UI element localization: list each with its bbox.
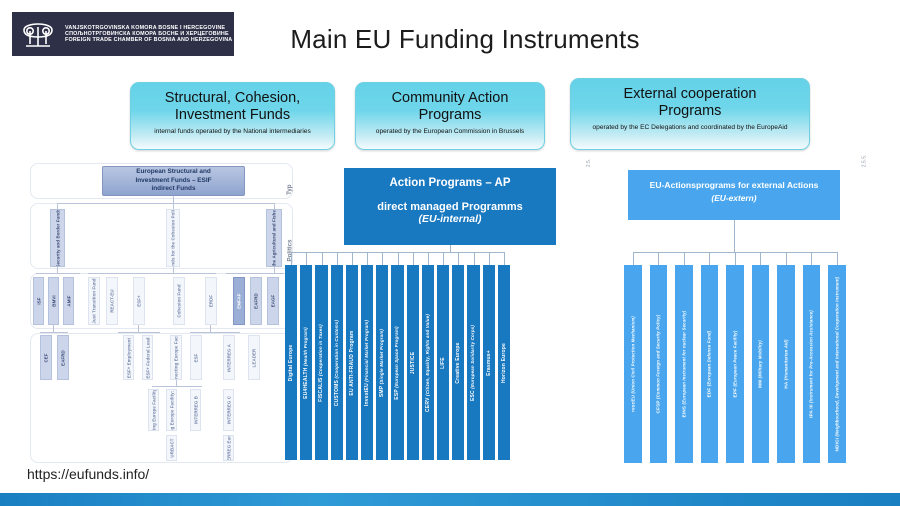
connector xyxy=(88,273,216,274)
program-bar-label: SMP (Single Market Program) xyxy=(379,328,385,396)
program-desc: (European Space Program) xyxy=(394,326,399,389)
connector xyxy=(152,386,202,387)
esif-subprogram-label: Connecting Europe Facility: Transport xyxy=(169,389,174,431)
program-bar-label: EU4HEALTH (Health Program) xyxy=(303,327,309,399)
program-bar[interactable]: CUSTOMS (Cooperation in Customs) xyxy=(331,265,343,460)
connector xyxy=(735,252,736,265)
slide-canvas: VANJSKOTRGOVINSKA KOMORA BOSNE I HERCEGO… xyxy=(0,0,900,506)
esif-subprogram-box: INTERREG A xyxy=(223,335,235,380)
program-abbr: Erasmus+ xyxy=(486,350,492,376)
esif-fund-react-eu: REACT-EU xyxy=(106,277,118,325)
esif-fund-cohesion-fund: Cohesion Fund xyxy=(173,277,185,325)
program-desc: (Neighbourhood, Development and Internat… xyxy=(834,277,839,438)
program-bar-label: EPF (European Peace Facility) xyxy=(732,331,737,398)
esif-fund-erdf: ERDF xyxy=(205,277,217,325)
connector xyxy=(709,252,710,265)
connector xyxy=(118,332,160,333)
program-abbr: EU4HEALTH xyxy=(303,367,309,398)
esif-subprogram-label: ESF xyxy=(194,353,199,362)
esif-subprogram-label: INTERREG Europe xyxy=(226,435,231,461)
connector xyxy=(489,252,490,265)
program-bar-label: CERV (Citizen, Equality, Rights and Valu… xyxy=(425,314,431,412)
program-bar[interactable]: EDF (European Defense Fund) xyxy=(701,265,719,463)
connector xyxy=(837,252,838,265)
esif-subprogram-label: INTERREG A xyxy=(227,344,232,372)
program-bar[interactable]: EPF (European Peace Facility) xyxy=(726,265,744,463)
esif-subprogram-box: Connecting Europe Facility xyxy=(170,335,182,380)
esif-subprogram-box: LEADER xyxy=(248,335,260,380)
action-programs-header: Action Programs – AP direct managed Prog… xyxy=(344,168,556,245)
program-bar[interactable]: HA (Humanitarian Aid) xyxy=(777,265,795,463)
program-abbr: NDICI xyxy=(834,438,839,452)
connector xyxy=(57,203,274,204)
program-bar-label: InvestEU (Financial Market Program) xyxy=(364,319,370,405)
top-box-external-cooperation-programs: External cooperation Programs operated b… xyxy=(570,78,810,150)
program-bar[interactable]: EINS (European Instrument for nuclear Se… xyxy=(675,265,693,463)
program-abbr: FISCALIS xyxy=(318,377,324,401)
esif-fund-label: BMVI xyxy=(51,295,56,306)
program-bar[interactable]: rescEU (Union Civil Protection Mechanism… xyxy=(624,265,642,463)
esif-diagram: Typ Politics Funds Subprograms European … xyxy=(30,163,293,463)
program-abbr: ESC xyxy=(470,390,476,401)
connector xyxy=(450,245,451,252)
program-bar-label: IPA III (Instrument for Pre-Accession As… xyxy=(809,310,814,418)
connector xyxy=(633,252,634,265)
ap-line-3: (EU-internal) xyxy=(344,213,556,225)
connector xyxy=(684,252,685,265)
esif-subprogram-label: INTERREG B xyxy=(193,396,198,424)
connector xyxy=(382,252,383,265)
connector xyxy=(458,252,459,265)
program-desc: (Health Program) xyxy=(303,327,308,367)
program-bar[interactable]: EU4HEALTH (Health Program) xyxy=(300,265,312,460)
esif-subprogram-label: URBACT xyxy=(169,438,174,457)
program-abbr: ESP xyxy=(394,389,400,400)
program-abbr: IPA III xyxy=(809,404,814,418)
esif-row-politics xyxy=(30,203,293,269)
page-title: Main EU Funding Instruments xyxy=(250,24,680,55)
esif-subprogram-box: ESF xyxy=(190,335,202,380)
program-bar-label: HA (Humanitarian Aid) xyxy=(783,339,788,388)
program-abbr: EPF xyxy=(732,388,737,398)
esif-fund-label: REACT-EU xyxy=(110,289,115,312)
esif-subprogram-box: INTERREG B xyxy=(190,389,201,431)
connector xyxy=(322,252,323,265)
program-abbr: rescEU xyxy=(630,395,635,412)
program-bar[interactable]: CERV (Citizen, Equality, Rights and Valu… xyxy=(422,265,434,460)
program-bar[interactable]: ESP (European Space Program) xyxy=(391,265,403,460)
esif-subprogram-label: Connecting Europe Facility xyxy=(174,335,179,380)
program-abbr: Horizon Europe xyxy=(501,342,507,382)
program-bar-label: MM (Military Mobility) xyxy=(758,340,763,388)
program-abbr: LIFE xyxy=(440,357,446,369)
box3-title-line2: Programs xyxy=(571,103,809,120)
program-bar-label: NDICI (Neighbourhood, Development and In… xyxy=(834,277,839,452)
program-desc: (European Peace Facility) xyxy=(732,331,737,388)
connector xyxy=(413,252,414,265)
esif-policy-label: Funds for the Cohesion Policy xyxy=(171,209,176,267)
esif-subprogram-label: Connecting Europe Facility: Digital xyxy=(151,389,156,431)
program-bar-label: rescEU (Union Civil Protection Mechanism… xyxy=(630,316,635,412)
esif-fund-label: EAFRD xyxy=(254,293,259,309)
esif-fund-bmvi: BMVI xyxy=(48,277,59,325)
esif-header-line2: Investment Funds – ESIF xyxy=(103,177,244,186)
program-bar-label: Horizon Europe xyxy=(501,342,507,382)
program-bar[interactable]: FISCALIS (Cooperation in Taxes) xyxy=(315,265,327,460)
program-abbr: MM xyxy=(758,380,763,388)
esif-policy-label: Funds for the Agricultural and Fisheries… xyxy=(272,209,277,267)
program-bar-label: LIFE xyxy=(440,357,446,369)
ap-line-1: Action Programs – AP xyxy=(344,177,556,189)
connector xyxy=(337,252,338,265)
esif-subprogram-label: INTERREG C xyxy=(226,396,231,424)
program-bar[interactable]: Erasmus+ xyxy=(483,265,495,460)
program-bar-label: CUSTOMS (Cooperation in Customs) xyxy=(334,319,340,405)
program-bar-label: EINS (European Instrument for nuclear Se… xyxy=(681,311,686,418)
program-desc: (Military Mobility) xyxy=(758,340,763,380)
box3-subtitle: operated by the EC Delegations and coord… xyxy=(571,124,809,132)
ext-line-2: (EU-extern) xyxy=(628,193,840,203)
esif-subprogram-box: ESF+ Employment xyxy=(123,335,134,380)
esif-fund-label: Just Transition Fund xyxy=(92,278,97,323)
program-desc: (European Defense Fund) xyxy=(707,331,712,388)
connector xyxy=(306,252,307,265)
esif-fund-emfaf: EMFAF xyxy=(233,277,245,325)
esif-subprogram-box: INTERREG Europe xyxy=(223,435,234,461)
program-bar[interactable]: IPA III (Instrument for Pre-Accession As… xyxy=(803,265,821,463)
program-desc: (Cooperation in Customs) xyxy=(334,319,339,379)
program-bar-label: Creative Europe xyxy=(455,342,461,383)
program-abbr: EU ANTI-FRAUD Program xyxy=(349,330,355,395)
program-abbr: CUSTOMS xyxy=(334,379,340,405)
esif-fund-label: EMFAF xyxy=(237,293,242,308)
esif-fund-isf: ISF xyxy=(33,277,44,325)
esif-header: European Structural and Investment Funds… xyxy=(102,166,245,196)
connector xyxy=(428,252,429,265)
box2-subtitle: operated by the European Commission in B… xyxy=(356,128,544,136)
ap-line-2: direct managed Programms xyxy=(344,201,556,213)
connector xyxy=(40,332,68,333)
connector xyxy=(504,252,505,265)
esif-fund-label: Cohesion Fund xyxy=(177,284,182,317)
program-bar[interactable]: Digital Europe xyxy=(285,265,297,460)
slide-mark-2: 2.5.5. xyxy=(861,155,867,168)
program-bar[interactable]: CFSP (Common Foreign and Security Policy… xyxy=(650,265,668,463)
esif-header-line1: European Structural and xyxy=(103,168,244,177)
connector xyxy=(173,196,174,203)
program-bar[interactable]: NDICI (Neighbourhood, Development and In… xyxy=(828,265,846,463)
esif-fund-eagf: EAGF xyxy=(267,277,279,325)
esif-fund-eafrd: EAFRD xyxy=(250,277,262,325)
connector xyxy=(786,252,787,265)
connector xyxy=(734,220,735,252)
program-desc: (Instrument for Pre-Accession Assistance… xyxy=(809,310,814,404)
connector xyxy=(760,252,761,265)
esif-subprogram-box: URBACT xyxy=(166,435,177,461)
program-desc: (European Instrument for nuclear Securit… xyxy=(681,311,686,406)
esif-fund-label: ISF xyxy=(36,297,41,304)
connector xyxy=(190,332,240,333)
program-desc: (Cooperation in Taxes) xyxy=(318,324,323,377)
connector xyxy=(291,252,292,265)
esif-fund-label: ERDF xyxy=(209,295,214,307)
connector xyxy=(352,252,353,265)
connector xyxy=(658,252,659,265)
esif-fund-amif: AMIF xyxy=(63,277,74,325)
esif-fund-label: EAGF xyxy=(271,295,276,308)
esif-policy-cohesion: Funds for the Cohesion Policy xyxy=(166,209,180,267)
program-abbr: HA xyxy=(783,382,788,389)
program-bar-label: JUSTICE xyxy=(410,351,416,374)
connector xyxy=(398,252,399,265)
esif-subprogram-box: CEF xyxy=(40,335,52,380)
program-desc: (Single Market Program) xyxy=(379,328,384,385)
program-bar[interactable]: Horizon Europe xyxy=(498,265,510,460)
chamber-logo: VANJSKOTRGOVINSKA KOMORA BOSNE I HERCEGO… xyxy=(12,12,234,56)
esif-subprogram-label: ESF+ Federal Lead xyxy=(145,337,150,378)
program-bar[interactable]: MM (Military Mobility) xyxy=(752,265,770,463)
program-desc: (Common Foreign and Security Policy) xyxy=(656,315,661,401)
program-bar-label: Erasmus+ xyxy=(486,350,492,376)
esif-header-line3: indirect Funds xyxy=(103,185,244,194)
program-abbr: CERV xyxy=(425,397,431,412)
esif-subprogram-box: Connecting Europe Facility: Digital xyxy=(148,389,159,431)
program-bar[interactable]: LIFE xyxy=(437,265,449,460)
esif-subprogram-label: LEADER xyxy=(252,348,257,367)
program-bar-label: FISCALIS (Cooperation in Taxes) xyxy=(318,324,324,402)
program-abbr: InvestEU xyxy=(364,383,370,406)
esif-subprogram-box: EAFRD xyxy=(57,335,69,380)
program-bar[interactable]: SMP (Single Market Program) xyxy=(376,265,388,460)
program-abbr: SMP xyxy=(379,385,385,396)
esif-policy-agriculture-fisheries: Funds for the Agricultural and Fisheries… xyxy=(266,209,282,267)
slide-mark-1: 2.5. xyxy=(586,159,592,167)
program-bar-label: Digital Europe xyxy=(288,344,294,381)
footer-bar xyxy=(0,493,900,506)
program-abbr: CFSP xyxy=(656,400,661,413)
box2-title-line1: Community Action xyxy=(356,90,544,107)
ext-line-1: EU-Actionsprograms for external Actions xyxy=(628,180,840,190)
source-url[interactable]: https://eufunds.info/ xyxy=(27,466,149,482)
esif-policy-security-border-funds: Security and Border Funds xyxy=(50,209,65,267)
program-bar[interactable]: EU ANTI-FRAUD Program xyxy=(346,265,358,460)
connector xyxy=(474,252,475,265)
program-abbr: JUSTICE xyxy=(410,351,416,374)
esif-label-typ: Typ xyxy=(287,185,294,196)
esif-policy-label: Security and Border Funds xyxy=(55,209,60,267)
box1-subtitle: internal funds operated by the National … xyxy=(131,128,334,136)
program-bar-label: EU ANTI-FRAUD Program xyxy=(349,330,355,395)
box3-title-line1: External cooperation xyxy=(571,86,809,103)
program-bar[interactable]: InvestEU (Financial Market Program) xyxy=(361,265,373,460)
program-bar[interactable]: ESC (European Solidarity Corps) xyxy=(467,265,479,460)
connector xyxy=(811,252,812,265)
box1-title-line1: Structural, Cohesion, xyxy=(131,90,334,107)
connector xyxy=(36,273,80,274)
program-desc: (Financial Market Program) xyxy=(364,319,369,382)
program-bar-label: EDF (European Defense Fund) xyxy=(707,331,712,398)
program-desc: (Citizen, Equality, Rights and Value) xyxy=(425,314,430,397)
esif-fund-label: ESF+ xyxy=(137,295,142,307)
box2-title-line2: Programs xyxy=(356,107,544,124)
external-programs-header: EU-Actionsprograms for external Actions … xyxy=(628,170,840,220)
program-bar-label: CFSP (Common Foreign and Security Policy… xyxy=(656,315,661,414)
program-bar[interactable]: JUSTICE xyxy=(407,265,419,460)
connector xyxy=(367,252,368,265)
esif-fund-just-transition: Just Transition Fund xyxy=(88,277,100,325)
top-box-structural-funds: Structural, Cohesion, Investment Funds i… xyxy=(130,82,335,150)
program-abbr: Digital Europe xyxy=(288,344,294,381)
esif-subprogram-box: INTERREG C xyxy=(223,389,234,431)
program-abbr: EINS xyxy=(681,406,686,418)
esif-subprogram-label: ESF+ Employment xyxy=(126,337,131,377)
top-box-community-action-programs: Community Action Programs operated by th… xyxy=(355,82,545,150)
esif-fund-label: AMIF xyxy=(66,295,71,306)
esif-subprogram-box: ESF+ Federal Lead xyxy=(142,335,153,380)
program-desc: (Union Civil Protection Mechanism) xyxy=(630,316,635,395)
chamber-tree-icon xyxy=(18,17,58,51)
program-desc: (European Solidarity Corps) xyxy=(470,324,475,389)
program-bar-label: ESC (European Solidarity Corps) xyxy=(470,324,476,400)
program-bar-label: ESP (European Space Program) xyxy=(394,326,400,399)
esif-label-politics: Politics xyxy=(287,240,294,262)
esif-subprogram-label: CEF xyxy=(44,353,49,362)
esif-subprogram-box: Connecting Europe Facility: Transport xyxy=(166,389,177,431)
logo-line-3: FOREIGN TRADE CHAMBER OF BOSNIA AND HERZ… xyxy=(65,37,232,43)
program-bar[interactable]: Creative Europe xyxy=(452,265,464,460)
esif-subprogram-label: EAFRD xyxy=(61,350,66,366)
box1-title-line2: Investment Funds xyxy=(131,107,334,124)
program-abbr: Creative Europe xyxy=(455,342,461,383)
program-abbr: EDF xyxy=(707,388,712,398)
program-desc: (Humanitarian Aid) xyxy=(783,339,788,381)
esif-fund-esf-plus: ESF+ xyxy=(133,277,145,325)
connector xyxy=(443,252,444,265)
connector xyxy=(226,273,284,274)
